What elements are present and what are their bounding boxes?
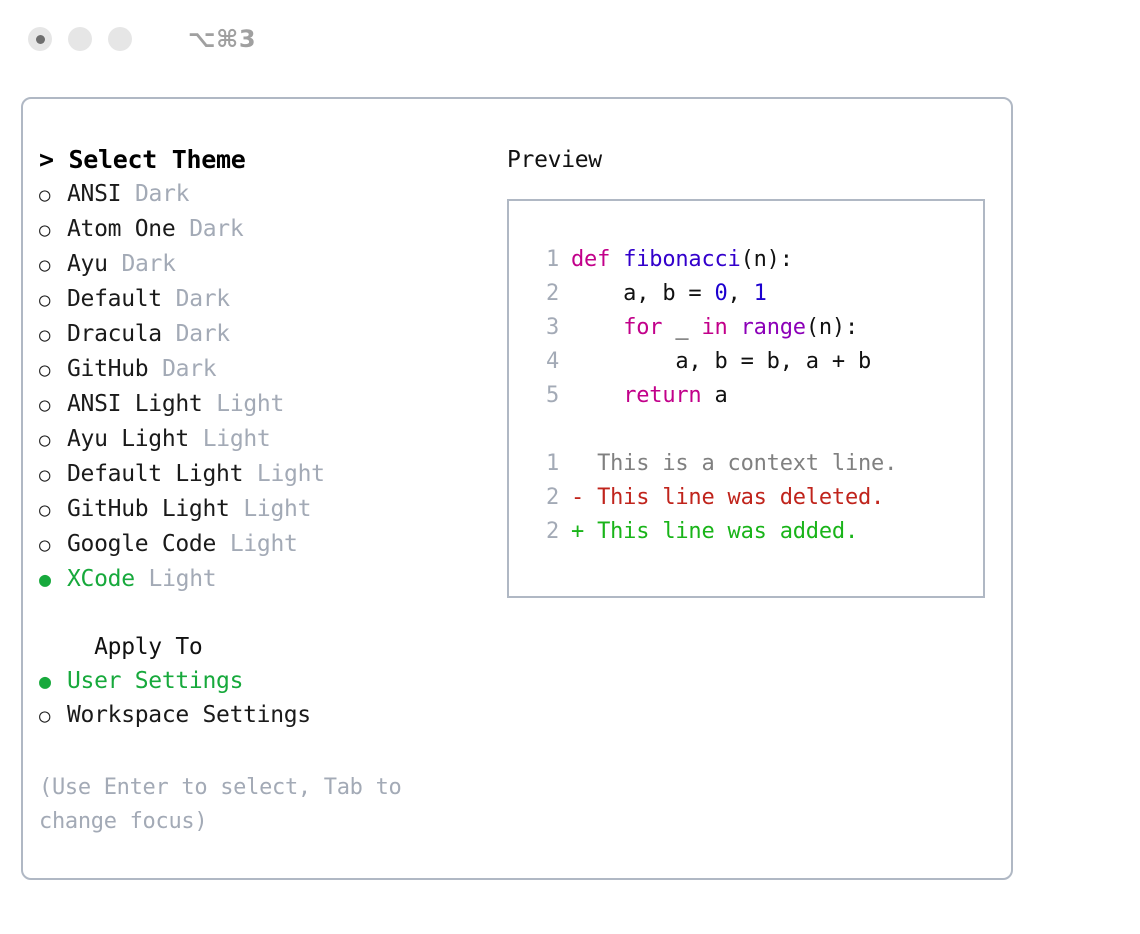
theme-option-label: ANSI Light: [67, 387, 202, 421]
diff-line-ctx: 1 This is a context line.: [525, 447, 983, 481]
theme-option-atom-one[interactable]: ○Atom OneDark: [39, 212, 483, 247]
code-token-txt: [571, 315, 623, 340]
theme-option-xcode[interactable]: ●XCodeLight: [39, 562, 483, 596]
theme-option-label: Default Light: [67, 457, 243, 491]
theme-option-label: Dracula: [67, 317, 162, 351]
code-token-num: 1: [754, 281, 767, 306]
theme-option-variant: Dark: [189, 212, 243, 246]
apply-to-section: Apply To ●User Settings○Workspace Settin…: [39, 630, 483, 733]
radio-unselected-icon: ○: [39, 213, 67, 247]
radio-selected-icon: ●: [39, 562, 67, 596]
theme-option-label: XCode: [67, 562, 135, 596]
radio-unselected-icon: ○: [39, 493, 67, 527]
diff-line-number: 2: [525, 481, 571, 515]
theme-option-list: ○ANSIDark○Atom OneDark○AyuDark○DefaultDa…: [39, 177, 483, 596]
window-titlebar: ⌥⌘3: [0, 0, 1140, 78]
code-token-txt: a, b = b, a + b: [571, 349, 871, 374]
theme-option-variant: Light: [216, 387, 284, 421]
code-line: 3 for _ in range(n):: [525, 311, 983, 345]
code-line-number: 1: [525, 243, 571, 277]
traffic-light-active-icon[interactable]: [28, 27, 52, 51]
theme-option-dracula[interactable]: ○DraculaDark: [39, 317, 483, 352]
radio-unselected-icon: ○: [39, 423, 67, 457]
code-line-content: for _ in range(n):: [571, 311, 858, 345]
preview-box: 1def fibonacci(n):2 a, b = 0, 13 for _ i…: [507, 199, 985, 598]
code-line: 2 a, b = 0, 1: [525, 277, 983, 311]
main-panel: > Select Theme ○ANSIDark○Atom OneDark○Ay…: [21, 97, 1013, 880]
apply-to-option-user-settings[interactable]: ●User Settings: [39, 664, 483, 698]
code-token-txt: ,: [728, 281, 754, 306]
code-token-kw: return: [623, 383, 701, 408]
apply-to-option-workspace-settings[interactable]: ○Workspace Settings: [39, 698, 483, 733]
theme-option-default-light[interactable]: ○Default LightLight: [39, 457, 483, 492]
code-sample: 1def fibonacci(n):2 a, b = 0, 13 for _ i…: [525, 243, 983, 413]
theme-option-variant: Dark: [121, 247, 175, 281]
theme-option-variant: Dark: [162, 352, 216, 386]
code-line-content: a, b = 0, 1: [571, 277, 767, 311]
radio-unselected-icon: ○: [39, 178, 67, 212]
code-token-fn: fibonacci: [623, 247, 740, 272]
traffic-light-2-icon[interactable]: [68, 27, 92, 51]
code-token-kw: in: [701, 315, 727, 340]
theme-option-label: Google Code: [67, 527, 216, 561]
code-token-txt: (n):: [806, 315, 858, 340]
diff-line-number: 1: [525, 447, 571, 481]
diff-line-add: 2+ This line was added.: [525, 515, 983, 549]
theme-option-variant: Dark: [176, 317, 230, 351]
theme-option-ayu[interactable]: ○AyuDark: [39, 247, 483, 282]
radio-unselected-icon: ○: [39, 388, 67, 422]
theme-option-label: Default: [67, 282, 162, 316]
apply-to-header: Apply To: [39, 630, 483, 664]
apply-to-option-list: ●User Settings○Workspace Settings: [39, 664, 483, 733]
app-window: ⌥⌘3 > Select Theme ○ANSIDark○Atom OneDar…: [0, 0, 1140, 934]
code-line-number: 2: [525, 277, 571, 311]
theme-option-label: ANSI: [67, 177, 121, 211]
preview-column: Preview 1def fibonacci(n):2 a, b = 0, 13…: [483, 99, 1011, 878]
diff-line-text: - This line was deleted.: [571, 481, 884, 515]
theme-option-variant: Light: [230, 527, 298, 561]
code-line-content: def fibonacci(n):: [571, 243, 793, 277]
radio-unselected-icon: ○: [39, 458, 67, 492]
code-spacer: [525, 413, 983, 447]
diff-line-del: 2- This line was deleted.: [525, 481, 983, 515]
code-line-content: a, b = b, a + b: [571, 345, 871, 379]
code-line-number: 5: [525, 379, 571, 413]
theme-option-variant: Light: [257, 457, 325, 491]
theme-option-github-light[interactable]: ○GitHub LightLight: [39, 492, 483, 527]
radio-unselected-icon: ○: [39, 699, 67, 733]
code-token-txt: _: [662, 315, 701, 340]
theme-option-ansi[interactable]: ○ANSIDark: [39, 177, 483, 212]
code-token-kw: for: [623, 315, 662, 340]
theme-option-variant: Dark: [135, 177, 189, 211]
theme-option-label: GitHub Light: [67, 492, 230, 526]
code-line: 5 return a: [525, 379, 983, 413]
theme-option-variant: Light: [243, 492, 311, 526]
code-token-txt: (n):: [741, 247, 793, 272]
keyboard-shortcut-label: ⌥⌘3: [188, 25, 256, 53]
diff-sample: 1 This is a context line.2- This line wa…: [525, 447, 983, 549]
code-token-num: 0: [715, 281, 728, 306]
code-token-txt: [571, 383, 623, 408]
code-line-content: return a: [571, 379, 728, 413]
theme-option-variant: Light: [149, 562, 217, 596]
theme-option-github[interactable]: ○GitHubDark: [39, 352, 483, 387]
theme-option-google-code[interactable]: ○Google CodeLight: [39, 527, 483, 562]
radio-unselected-icon: ○: [39, 283, 67, 317]
traffic-light-dot-icon: [36, 35, 45, 44]
diff-line-number: 2: [525, 515, 571, 549]
apply-to-option-label: User Settings: [67, 664, 243, 698]
radio-unselected-icon: ○: [39, 528, 67, 562]
theme-option-ansi-light[interactable]: ○ANSI LightLight: [39, 387, 483, 422]
diff-line-text: + This line was added.: [571, 515, 858, 549]
diff-line-text: This is a context line.: [571, 447, 897, 481]
theme-option-label: GitHub: [67, 352, 148, 386]
code-line-number: 3: [525, 311, 571, 345]
theme-option-label: Atom One: [67, 212, 175, 246]
radio-selected-icon: ●: [39, 664, 67, 698]
code-token-kw: def: [571, 247, 623, 272]
theme-picker-column: > Select Theme ○ANSIDark○Atom OneDark○Ay…: [23, 99, 483, 878]
radio-unselected-icon: ○: [39, 248, 67, 282]
radio-unselected-icon: ○: [39, 353, 67, 387]
theme-option-label: Ayu: [67, 247, 108, 281]
theme-option-variant: Light: [203, 422, 271, 456]
code-line-number: 4: [525, 345, 571, 379]
code-token-txt: [728, 315, 741, 340]
theme-option-variant: Dark: [176, 282, 230, 316]
code-line: 1def fibonacci(n):: [525, 243, 983, 277]
apply-to-option-label: Workspace Settings: [67, 698, 311, 732]
select-theme-header: > Select Theme: [39, 143, 483, 177]
preview-title: Preview: [507, 143, 1011, 177]
theme-option-label: Ayu Light: [67, 422, 189, 456]
traffic-light-3-icon[interactable]: [108, 27, 132, 51]
code-line: 4 a, b = b, a + b: [525, 345, 983, 379]
code-token-txt: a: [701, 383, 727, 408]
keyboard-hint-text: (Use Enter to select, Tab to change focu…: [39, 771, 439, 839]
radio-unselected-icon: ○: [39, 318, 67, 352]
theme-option-ayu-light[interactable]: ○Ayu LightLight: [39, 422, 483, 457]
code-token-call: range: [741, 315, 806, 340]
theme-option-default[interactable]: ○DefaultDark: [39, 282, 483, 317]
code-token-txt: a, b =: [571, 281, 715, 306]
